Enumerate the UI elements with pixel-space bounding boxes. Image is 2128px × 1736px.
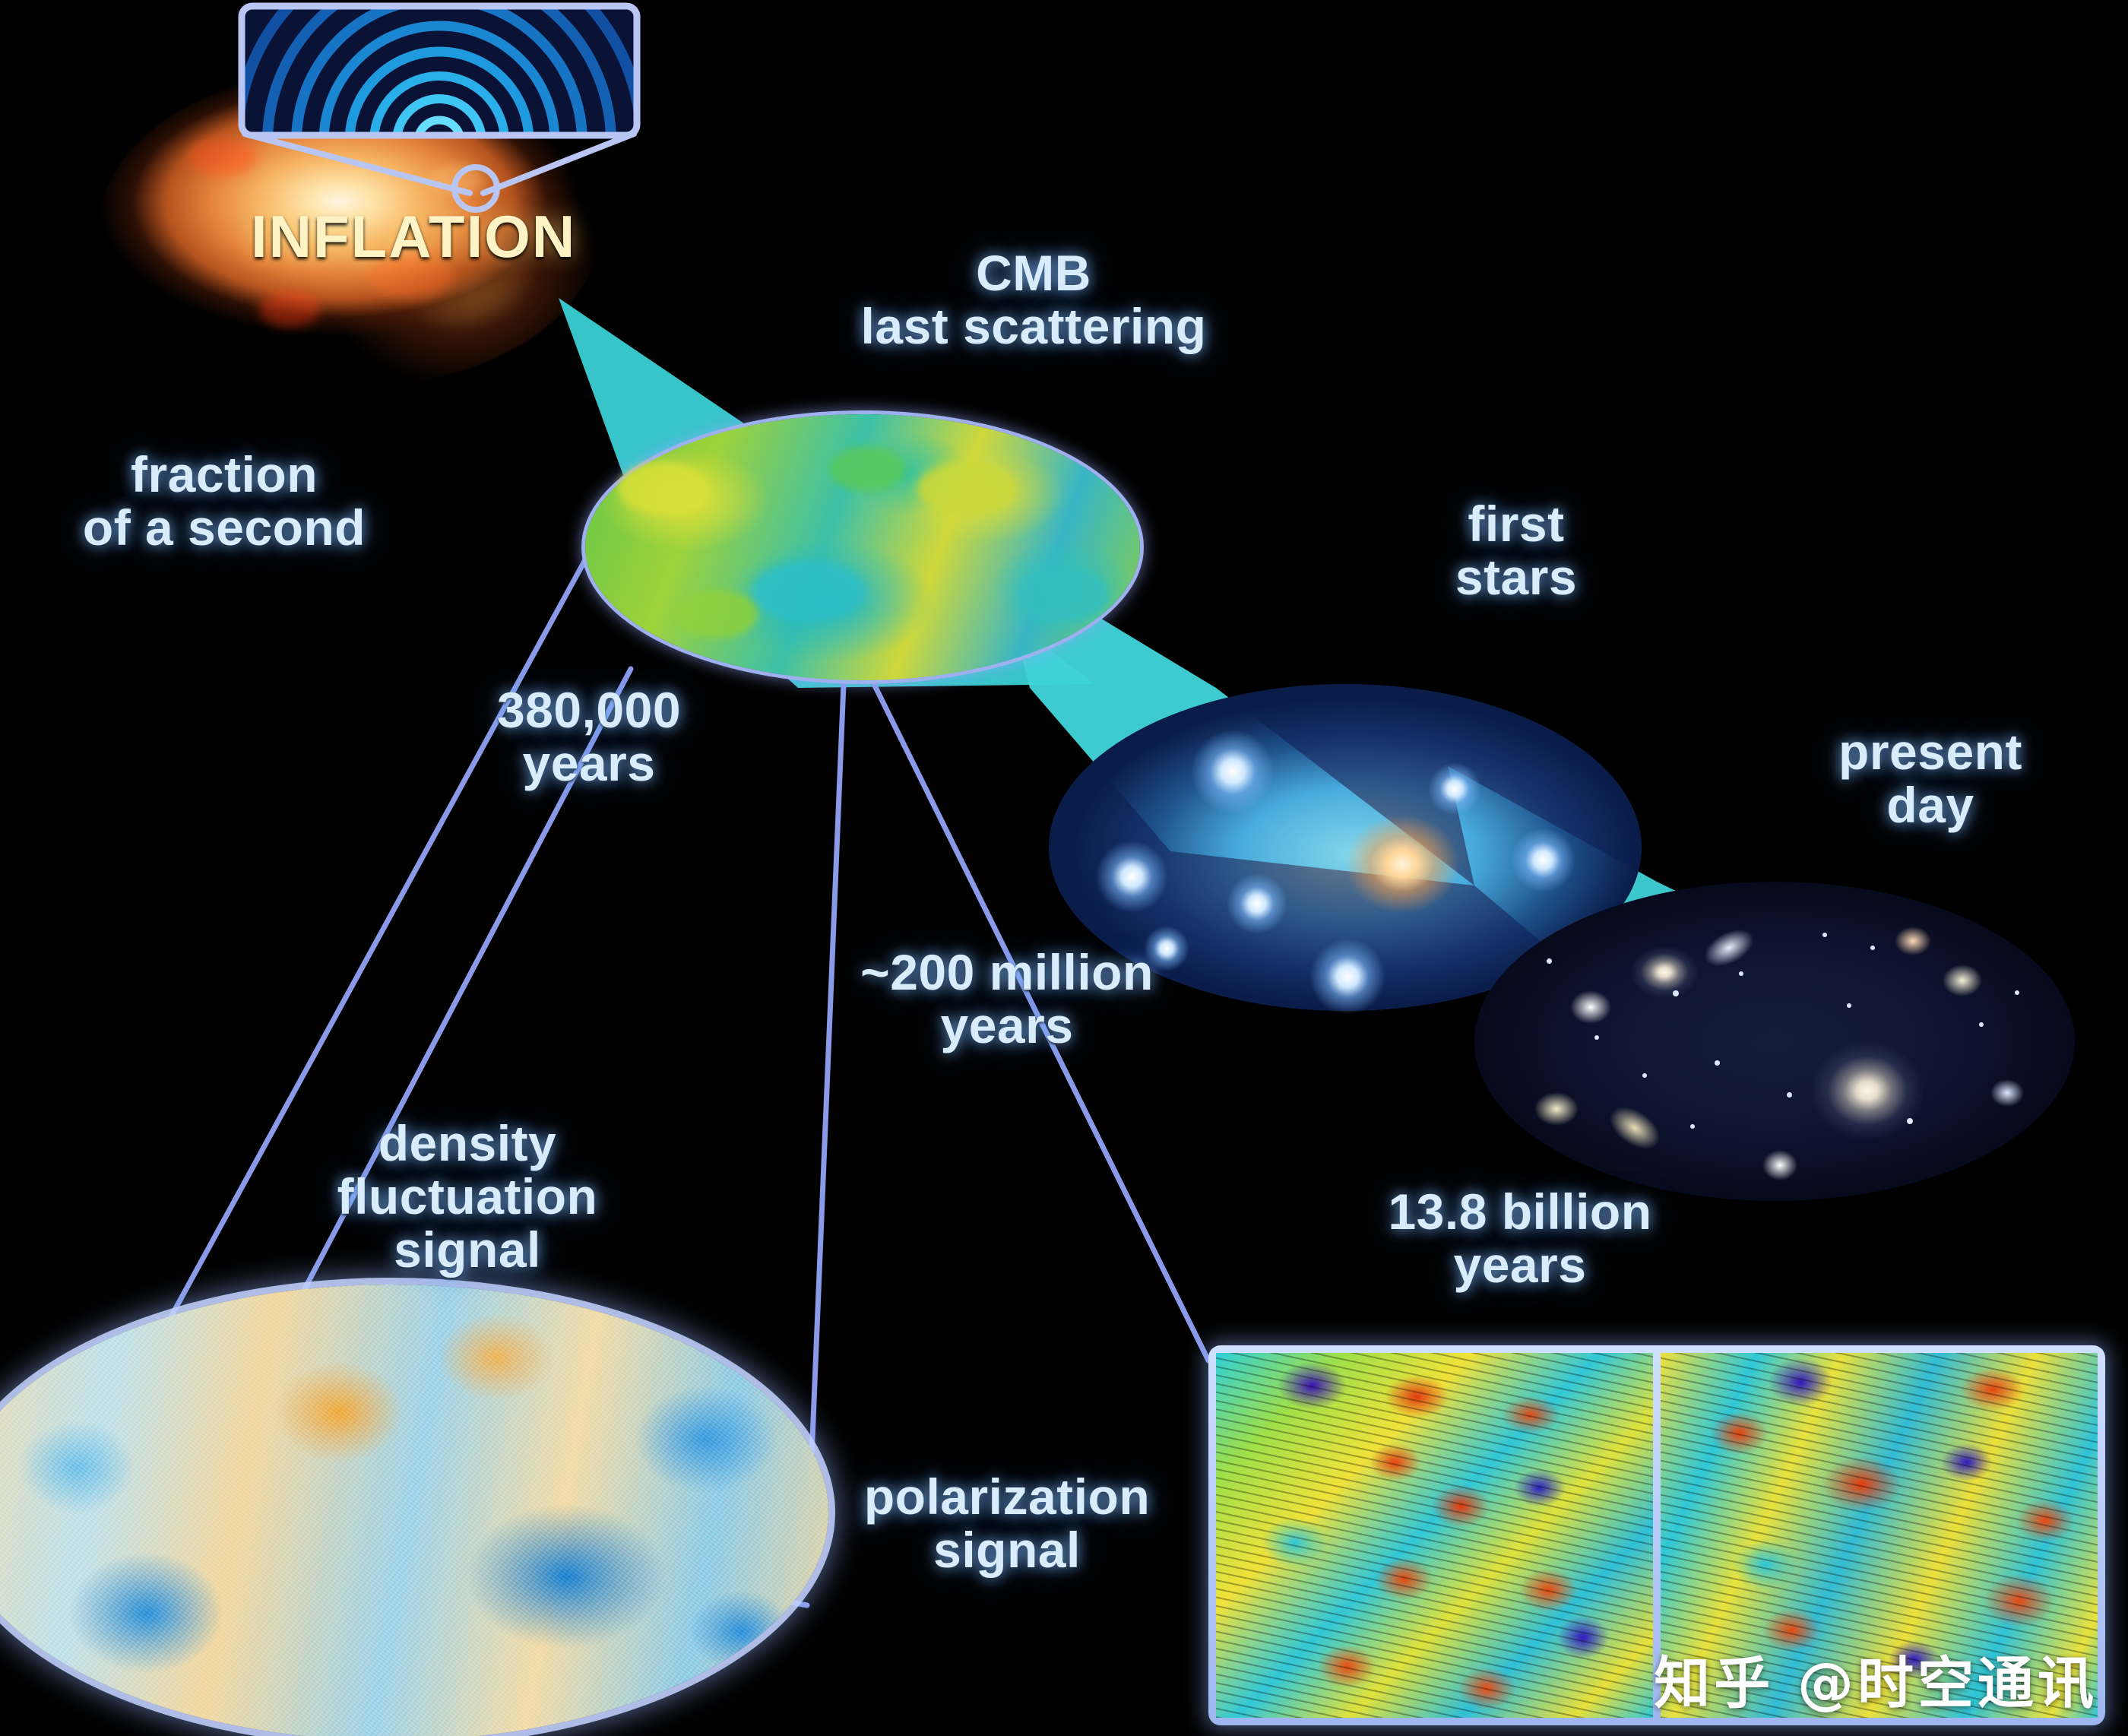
present-day-galaxies-ellipse xyxy=(1474,882,2075,1201)
label-first-stars: first stars xyxy=(1410,498,1623,604)
label-200-million-years: ~200 million years xyxy=(825,946,1189,1053)
label-polarization-signal: polarization signal xyxy=(825,1471,1189,1577)
label-380000-years: 380,000 years xyxy=(460,684,718,790)
label-inflation: INFLATION xyxy=(251,205,570,268)
watermark: 知乎 @时空通讯 xyxy=(1654,1638,2098,1719)
label-fraction-of-a-second: fraction of a second xyxy=(46,448,403,555)
label-present-day: present day xyxy=(1801,726,2060,832)
label-density-fluctuation-signal: density fluctuation signal xyxy=(300,1117,635,1277)
label-cmb-last-scattering: CMB last scattering xyxy=(836,247,1231,353)
cmb-last-scattering-ellipse xyxy=(585,414,1140,680)
cosmic-timeline-figure: INFLATION fraction of a second CMB last … xyxy=(0,0,2128,1736)
quantum-wave-inset xyxy=(237,0,641,344)
label-13.8-billion-years: 13.8 billion years xyxy=(1307,1186,1733,1292)
polarization-map-left xyxy=(1216,1353,1653,1718)
